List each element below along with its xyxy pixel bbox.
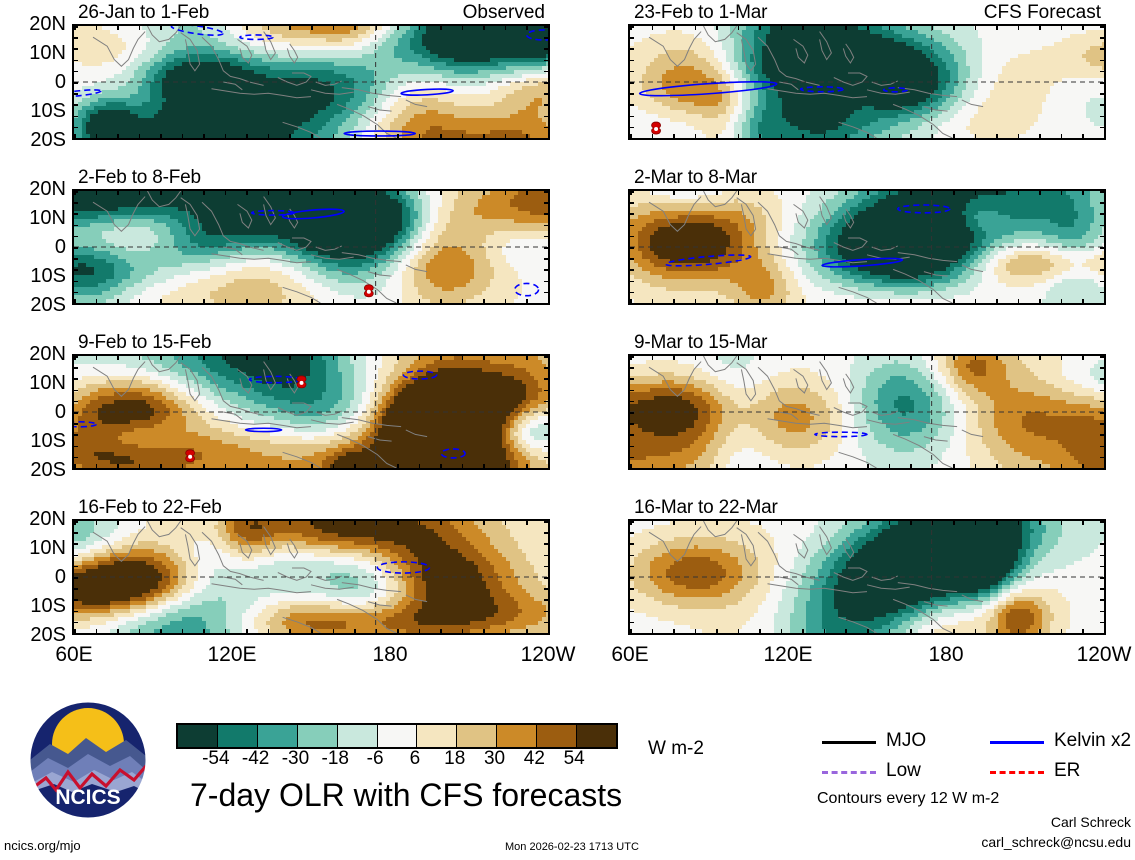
axis-tick (544, 82, 550, 84)
axis-tick (695, 354, 697, 360)
axis-tick (289, 354, 291, 360)
axis-tick (72, 434, 78, 436)
axis-tick (628, 26, 634, 28)
axis-tick (333, 464, 335, 470)
y-axis-tick-label: 20N (0, 343, 66, 366)
axis-tick (910, 519, 912, 525)
axis-tick (975, 24, 977, 30)
axis-tick (1082, 464, 1084, 470)
axis-tick (419, 24, 421, 30)
axis-tick (628, 93, 634, 95)
axis-tick (544, 566, 550, 568)
axis-tick (96, 189, 98, 195)
x-axis-tick-label: 60E (590, 643, 670, 667)
axis-tick (289, 299, 291, 305)
axis-tick (652, 189, 654, 195)
x-axis-tick-label: 180 (906, 643, 986, 667)
axis-tick (289, 464, 291, 470)
olr-map-panel (72, 24, 550, 140)
axis-tick (333, 299, 335, 305)
axis-tick (354, 354, 356, 360)
axis-tick (72, 468, 78, 470)
axis-tick (72, 225, 78, 227)
axis-tick (354, 189, 356, 195)
y-axis-tick-label: 10N (0, 372, 66, 395)
axis-tick (354, 299, 356, 305)
axis-tick (311, 519, 313, 525)
axis-tick (628, 378, 634, 380)
axis-tick (72, 292, 78, 294)
axis-tick (759, 354, 761, 360)
axis-tick (628, 104, 634, 106)
axis-tick (117, 519, 119, 525)
axis-tick (333, 189, 335, 195)
axis-tick (544, 378, 550, 380)
axis-tick (268, 24, 270, 30)
axis-tick (544, 532, 550, 534)
axis-tick (975, 134, 977, 140)
x-axis-tick-label: 120W (1064, 643, 1135, 667)
axis-tick (160, 519, 162, 525)
y-axis-tick-label: 10N (0, 537, 66, 560)
axis-tick (673, 24, 675, 30)
axis-tick (1061, 354, 1063, 360)
axis-tick (652, 299, 654, 305)
axis-tick (544, 116, 550, 118)
axis-tick (483, 519, 485, 525)
axis-tick (628, 213, 634, 215)
axis-tick (440, 464, 442, 470)
axis-tick (72, 213, 78, 215)
axis-tick (845, 189, 847, 195)
axis-tick (117, 464, 119, 470)
axis-tick (462, 24, 464, 30)
axis-tick (1061, 629, 1063, 635)
axis-tick (781, 354, 783, 360)
axis-tick (397, 134, 399, 140)
axis-tick (889, 134, 891, 140)
axis-tick (1100, 26, 1106, 28)
axis-tick (72, 566, 78, 568)
olr-map-panel (72, 189, 550, 305)
column-label-observed: Observed (390, 2, 545, 24)
axis-tick (781, 189, 783, 195)
axis-tick (1100, 225, 1106, 227)
axis-tick (1061, 24, 1063, 30)
axis-tick (182, 519, 184, 525)
axis-tick (526, 464, 528, 470)
axis-tick (738, 519, 740, 525)
axis-tick (544, 401, 550, 403)
axis-tick (1100, 367, 1106, 369)
panel-title: 2-Feb to 8-Feb (78, 167, 201, 189)
axis-tick (716, 299, 718, 305)
axis-tick (673, 519, 675, 525)
legend-line-low (822, 771, 876, 774)
axis-tick (889, 464, 891, 470)
axis-tick (72, 367, 78, 369)
axis-tick (716, 24, 718, 30)
axis-tick (1100, 303, 1106, 305)
colorbar-swatch (576, 725, 616, 747)
axis-tick (824, 299, 826, 305)
axis-tick (996, 629, 998, 635)
axis-tick (72, 104, 78, 106)
axis-tick (1100, 468, 1106, 470)
axis-tick (824, 354, 826, 360)
axis-tick (673, 629, 675, 635)
axis-tick (397, 354, 399, 360)
axis-tick (440, 299, 442, 305)
axis-tick (289, 519, 291, 525)
axis-tick (1100, 611, 1106, 613)
axis-tick (889, 299, 891, 305)
axis-tick (96, 629, 98, 635)
axis-tick (182, 189, 184, 195)
axis-tick (628, 247, 634, 249)
olr-map-panel (72, 519, 550, 635)
axis-tick (72, 71, 78, 73)
axis-tick (910, 354, 912, 360)
axis-tick (72, 577, 78, 579)
axis-tick (1018, 629, 1020, 635)
axis-tick (72, 48, 78, 50)
axis-tick (628, 555, 634, 557)
axis-tick (1039, 629, 1041, 635)
axis-tick (1100, 434, 1106, 436)
axis-tick (628, 566, 634, 568)
axis-tick (376, 519, 378, 525)
axis-tick (759, 24, 761, 30)
axis-tick (268, 519, 270, 525)
axis-tick (72, 26, 78, 28)
axis-tick (845, 629, 847, 635)
axis-tick (203, 629, 205, 635)
axis-tick (910, 189, 912, 195)
axis-tick (1018, 299, 1020, 305)
axis-tick (311, 629, 313, 635)
axis-tick (1100, 236, 1106, 238)
axis-tick (996, 464, 998, 470)
axis-tick (628, 457, 634, 459)
axis-tick (628, 588, 634, 590)
axis-tick (695, 519, 697, 525)
axis-tick (652, 24, 654, 30)
axis-tick (397, 519, 399, 525)
axis-tick (72, 622, 78, 624)
y-axis-tick-label: 10S (0, 265, 66, 288)
axis-tick (716, 464, 718, 470)
axis-tick (289, 189, 291, 195)
axis-tick (72, 191, 78, 193)
y-axis-tick-label: 10S (0, 100, 66, 123)
axis-tick (440, 134, 442, 140)
axis-tick (544, 71, 550, 73)
axis-tick (889, 629, 891, 635)
axis-tick (544, 468, 550, 470)
axis-tick (225, 464, 227, 470)
y-axis-tick-label: 0 (0, 566, 66, 589)
colorbar-swatch (377, 725, 417, 747)
axis-tick (544, 521, 550, 523)
axis-tick (889, 189, 891, 195)
axis-tick (376, 134, 378, 140)
axis-tick (544, 633, 550, 635)
axis-tick (1039, 519, 1041, 525)
axis-tick (544, 60, 550, 62)
axis-tick (544, 543, 550, 545)
axis-tick (354, 519, 356, 525)
axis-tick (781, 519, 783, 525)
axis-tick (652, 134, 654, 140)
axis-tick (117, 299, 119, 305)
legend-line-er (990, 771, 1044, 774)
axis-tick (96, 24, 98, 30)
axis-tick (695, 629, 697, 635)
axis-tick (544, 225, 550, 227)
axis-tick (289, 24, 291, 30)
axis-tick (824, 464, 826, 470)
axis-tick (716, 189, 718, 195)
axis-tick (544, 367, 550, 369)
axis-tick (544, 434, 550, 436)
axis-tick (72, 281, 78, 283)
axis-tick (96, 519, 98, 525)
axis-tick (311, 354, 313, 360)
axis-tick (628, 521, 634, 523)
axis-tick (1100, 566, 1106, 568)
axis-tick (628, 434, 634, 436)
axis-tick (72, 93, 78, 95)
axis-tick (72, 543, 78, 545)
axis-tick (759, 519, 761, 525)
axis-tick (268, 299, 270, 305)
axis-tick (1100, 269, 1106, 271)
axis-tick (203, 299, 205, 305)
axis-tick (440, 354, 442, 360)
axis-tick (139, 464, 141, 470)
axis-tick (246, 189, 248, 195)
axis-tick (781, 299, 783, 305)
axis-tick (781, 629, 783, 635)
axis-tick (544, 236, 550, 238)
axis-tick (544, 269, 550, 271)
axis-tick (932, 189, 934, 195)
axis-tick (544, 247, 550, 249)
axis-tick (182, 134, 184, 140)
axis-tick (695, 464, 697, 470)
axis-tick (419, 354, 421, 360)
axis-tick (72, 258, 78, 260)
axis-tick (96, 134, 98, 140)
axis-tick (72, 633, 78, 635)
axis-tick (544, 446, 550, 448)
axis-tick (160, 629, 162, 635)
axis-tick (311, 24, 313, 30)
colorbar-swatch (456, 725, 496, 747)
axis-tick (1100, 48, 1106, 50)
axis-tick (96, 464, 98, 470)
axis-tick (544, 457, 550, 459)
page-title: 7-day OLR with CFS forecasts (190, 777, 622, 814)
axis-tick (1100, 127, 1106, 129)
axis-tick (246, 354, 248, 360)
axis-tick (505, 189, 507, 195)
axis-tick (483, 134, 485, 140)
generated-timestamp: Mon 2026-02-23 1713 UTC (505, 841, 639, 853)
axis-tick (72, 236, 78, 238)
ncics-logo: NCICS (28, 700, 148, 820)
axis-tick (397, 189, 399, 195)
axis-tick (1061, 189, 1063, 195)
axis-tick (505, 24, 507, 30)
axis-tick (628, 611, 634, 613)
axis-tick (975, 299, 977, 305)
colorbar-swatch (297, 725, 337, 747)
axis-tick (953, 299, 955, 305)
axis-tick (505, 464, 507, 470)
axis-tick (845, 299, 847, 305)
panel-title: 23-Feb to 1-Mar (634, 2, 767, 24)
colorbar-swatch (178, 725, 217, 747)
axis-tick (1018, 134, 1020, 140)
axis-tick (160, 464, 162, 470)
colorbar-tick-label: 54 (550, 748, 598, 770)
axis-tick (1100, 104, 1106, 106)
axis-tick (628, 82, 634, 84)
colorbar-swatch (536, 725, 576, 747)
axis-tick (160, 134, 162, 140)
axis-tick (1100, 213, 1106, 215)
axis-tick (716, 354, 718, 360)
axis-tick (1100, 622, 1106, 624)
axis-tick (628, 356, 634, 358)
axis-tick (397, 299, 399, 305)
axis-tick (544, 555, 550, 557)
axis-tick (1082, 354, 1084, 360)
axis-tick (759, 629, 761, 635)
axis-tick (72, 611, 78, 613)
axis-tick (695, 24, 697, 30)
axis-tick (505, 299, 507, 305)
site-url[interactable]: ncics.org/mjo (4, 838, 81, 853)
axis-tick (781, 134, 783, 140)
y-axis-tick-label: 20N (0, 13, 66, 36)
x-axis-tick-label: 120W (508, 643, 588, 667)
axis-tick (867, 354, 869, 360)
axis-tick (462, 629, 464, 635)
axis-tick (139, 299, 141, 305)
axis-tick (419, 134, 421, 140)
axis-tick (225, 189, 227, 195)
axis-tick (628, 191, 634, 193)
axis-tick (975, 519, 977, 525)
axis-tick (462, 299, 464, 305)
axis-tick (932, 24, 934, 30)
axis-tick (759, 464, 761, 470)
axis-tick (759, 134, 761, 140)
colorbar-swatch (217, 725, 257, 747)
axis-tick (72, 378, 78, 380)
axis-tick (1018, 24, 1020, 30)
axis-tick (72, 138, 78, 140)
axis-tick (802, 24, 804, 30)
axis-tick (376, 354, 378, 360)
axis-tick (628, 532, 634, 534)
author-name: Carl Schreck (0, 814, 1135, 830)
colorbar-swatch (257, 725, 297, 747)
axis-tick (268, 189, 270, 195)
olr-map-panel (628, 354, 1106, 470)
axis-tick (1061, 464, 1063, 470)
axis-tick (802, 629, 804, 635)
axis-tick (376, 189, 378, 195)
axis-tick (628, 60, 634, 62)
axis-tick (1082, 134, 1084, 140)
colorbar (176, 723, 618, 749)
axis-tick (526, 189, 528, 195)
axis-tick (1061, 519, 1063, 525)
axis-tick (1082, 24, 1084, 30)
column-label-forecast: CFS Forecast (946, 2, 1101, 24)
axis-tick (72, 532, 78, 534)
axis-tick (738, 354, 740, 360)
axis-tick (673, 134, 675, 140)
axis-tick (1061, 299, 1063, 305)
axis-tick (96, 354, 98, 360)
axis-tick (225, 134, 227, 140)
axis-tick (117, 24, 119, 30)
axis-tick (160, 24, 162, 30)
axis-tick (505, 354, 507, 360)
axis-tick (1039, 464, 1041, 470)
legend-label: Kelvin x2 (1054, 730, 1131, 752)
axis-tick (996, 24, 998, 30)
axis-tick (932, 354, 934, 360)
axis-tick (628, 48, 634, 50)
legend-label: Low (886, 760, 921, 782)
axis-tick (544, 127, 550, 129)
axis-tick (544, 213, 550, 215)
axis-tick (544, 588, 550, 590)
axis-tick (544, 138, 550, 140)
axis-tick (225, 629, 227, 635)
axis-tick (802, 134, 804, 140)
axis-tick (117, 134, 119, 140)
axis-tick (289, 629, 291, 635)
x-axis-tick-label: 60E (34, 643, 114, 667)
axis-tick (72, 423, 78, 425)
axis-tick (526, 299, 528, 305)
y-axis-tick-label: 20S (0, 459, 66, 482)
legend-line-kelvin-x2 (990, 741, 1044, 744)
axis-tick (483, 354, 485, 360)
axis-tick (526, 354, 528, 360)
axis-tick (628, 303, 634, 305)
axis-tick (376, 464, 378, 470)
axis-tick (419, 189, 421, 195)
axis-tick (910, 299, 912, 305)
axis-tick (1018, 464, 1020, 470)
axis-tick (1100, 423, 1106, 425)
panel-title: 9-Mar to 15-Mar (634, 332, 767, 354)
axis-tick (419, 464, 421, 470)
axis-tick (544, 303, 550, 305)
axis-tick (932, 629, 934, 635)
axis-tick (1100, 202, 1106, 204)
axis-tick (781, 24, 783, 30)
axis-tick (1082, 629, 1084, 635)
